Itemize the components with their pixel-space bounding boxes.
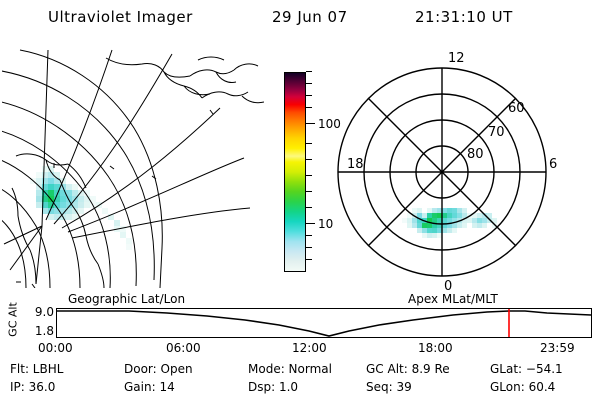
- orbit-altitude-plot[interactable]: [56, 308, 592, 338]
- status-glon: GLon: 60.4: [490, 380, 555, 394]
- status-ip: IP: 36.0: [10, 380, 55, 394]
- uvi-screenshot-root: Ultraviolet Imager 29 Jun 07 21:31:10 UT: [0, 0, 600, 400]
- header-bar: Ultraviolet Imager 29 Jun 07 21:31:10 UT: [0, 6, 600, 32]
- mlt-label-12: 12: [448, 51, 465, 66]
- colorbar-gradient: [284, 72, 306, 272]
- time-tick-0600: 06:00: [166, 341, 201, 355]
- time-axis: 00:00 06:00 12:00 18:00 23:59: [0, 341, 600, 357]
- status-glat: GLat: −54.1: [490, 362, 563, 376]
- mlt-label-18: 18: [347, 157, 364, 172]
- mlt-dial-panel[interactable]: 12 6 0 18 60 70 80: [336, 46, 598, 294]
- status-dsp: Dsp: 1.0: [248, 380, 298, 394]
- status-gc-alt: GC Alt: 8.9 Re: [366, 362, 450, 376]
- observation-time: 21:31:10 UT: [415, 8, 513, 26]
- mlt-label-6: 6: [549, 157, 557, 172]
- geographic-map-svg: [2, 48, 264, 288]
- mlt-ring-label-60: 60: [508, 101, 525, 116]
- mlt-ring-label-70: 70: [488, 125, 505, 140]
- status-gain: Gain: 14: [124, 380, 175, 394]
- observation-date: 29 Jun 07: [272, 8, 348, 26]
- mlt-ring-label-80: 80: [467, 147, 484, 162]
- gcalt-tick-low: 1.8: [35, 325, 54, 337]
- time-tick-1200: 12:00: [292, 341, 327, 355]
- time-tick-1800: 18:00: [418, 341, 453, 355]
- latitude-grid-lines: [2, 50, 162, 288]
- time-tick-0000: 00:00: [38, 341, 73, 355]
- status-door: Door: Open: [124, 362, 193, 376]
- geographic-map-panel[interactable]: [2, 48, 264, 288]
- status-seq: Seq: 39: [366, 380, 412, 394]
- time-tick-2359: 23:59: [540, 341, 575, 355]
- status-filter: Flt: LBHL: [10, 362, 63, 376]
- mlt-spokes: [338, 68, 546, 276]
- gcalt-tick-high: 9.0: [35, 306, 54, 318]
- instrument-title: Ultraviolet Imager: [48, 8, 193, 26]
- gcalt-tick-labels: 9.0 1.8: [18, 306, 54, 342]
- status-mode: Mode: Normal: [248, 362, 332, 376]
- orbit-panel-titles: Geographic Lat/Lon Apex MLat/MLT: [0, 292, 600, 308]
- mlt-panel-title: Apex MLat/MLT: [408, 292, 498, 306]
- mlt-dial-svg: 12 6 0 18 60 70 80: [336, 46, 598, 294]
- orbit-track-line: [57, 311, 591, 336]
- colorbar-tick-10: 10: [318, 218, 333, 230]
- orbit-altitude-svg: [57, 309, 591, 337]
- geo-panel-title: Geographic Lat/Lon: [68, 292, 185, 306]
- status-block: Flt: LBHL Door: Open Mode: Normal GC Alt…: [0, 362, 600, 400]
